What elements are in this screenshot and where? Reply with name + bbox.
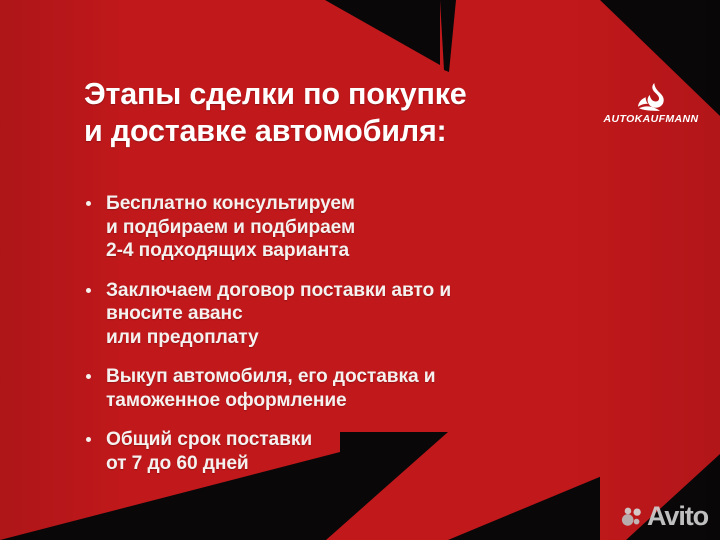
- list-item-line: вносите аванс: [106, 302, 604, 326]
- bullet-dot-icon: [86, 288, 91, 293]
- list-item: Общий срок поставки от 7 до 60 дней: [84, 428, 604, 475]
- list-item-line: таможенное оформление: [106, 389, 604, 413]
- bullet-dot-icon: [86, 374, 91, 379]
- page-title-line-1: Этапы сделки по покупке: [84, 76, 604, 113]
- steps-list: Бесплатно консультируем и подбираем и по…: [84, 192, 604, 475]
- bullet-dot-icon: [86, 201, 91, 206]
- page-title: Этапы сделки по покупке и доставке автом…: [84, 76, 604, 150]
- bullet-dot-icon: [86, 437, 91, 442]
- brand-lockup: AUTOKAUFMANN: [592, 82, 710, 125]
- avito-dots-icon: [621, 506, 643, 528]
- avito-watermark: Avito: [621, 503, 708, 530]
- brand-wordmark: AUTOKAUFMANN: [592, 113, 710, 125]
- list-item-line: Заключаем договор поставки авто и: [106, 279, 604, 303]
- list-item-line: и подбираем и подбираем: [106, 216, 604, 240]
- avito-wordmark: Avito: [647, 503, 708, 530]
- list-item-line: или предоплату: [106, 326, 604, 350]
- flame-logo-icon: [634, 82, 668, 112]
- list-item-line: от 7 до 60 дней: [106, 452, 604, 476]
- list-item-line: Общий срок поставки: [106, 428, 604, 452]
- page-title-line-2: и доставке автомобиля:: [84, 113, 604, 150]
- list-item-line: Бесплатно консультируем: [106, 192, 604, 216]
- list-item: Выкуп автомобиля, его доставка и таможен…: [84, 365, 604, 412]
- list-item: Заключаем договор поставки авто и вносит…: [84, 279, 604, 350]
- promo-banner: Этапы сделки по покупке и доставке автом…: [0, 0, 720, 540]
- list-item-line: Выкуп автомобиля, его доставка и: [106, 365, 604, 389]
- list-item: Бесплатно консультируем и подбираем и по…: [84, 192, 604, 263]
- list-item-line: 2-4 подходящих варианта: [106, 239, 604, 263]
